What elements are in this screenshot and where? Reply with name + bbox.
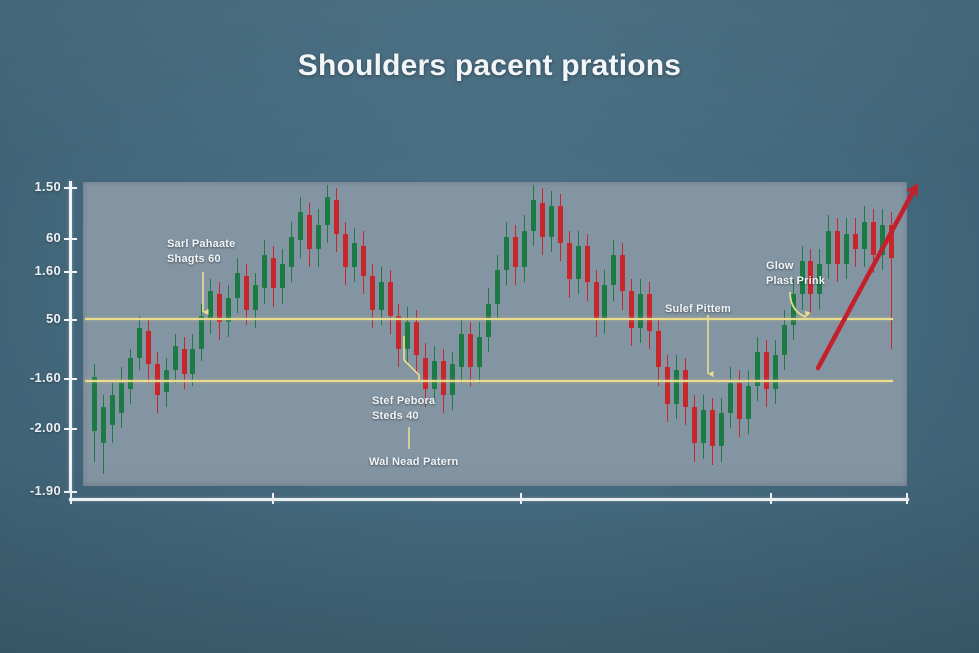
annotation-line: Stef Pebora xyxy=(372,394,435,409)
left-annotation: Sarl PahaateShagts 60 xyxy=(167,237,235,267)
breakout-annotation-pointer xyxy=(790,292,806,317)
screenshot-root: Shoulders pacent prations 1.50601.6050-1… xyxy=(0,0,979,653)
annotation-line: Sulef Pittem xyxy=(665,302,731,317)
middle-annotation: Stef PeboraSteds 40 xyxy=(372,394,435,424)
annotation-line: Glow xyxy=(766,259,825,274)
annotation-line: Shagts 60 xyxy=(167,252,235,267)
breakout-arrow-icon xyxy=(810,176,940,376)
bottom-annotation: Wal Nead Patern xyxy=(369,455,458,470)
annotation-line: Steds 40 xyxy=(372,409,435,424)
annotation-line: Plast Prink xyxy=(766,274,825,289)
right-annotation: Sulef Pittem xyxy=(665,302,731,317)
annotation-line: Sarl Pahaate xyxy=(167,237,235,252)
middle-annotation-elbow xyxy=(404,336,419,381)
annotation-line: Wal Nead Patern xyxy=(369,455,458,470)
breakout-annotation: GlowPlast Prink xyxy=(766,259,825,289)
